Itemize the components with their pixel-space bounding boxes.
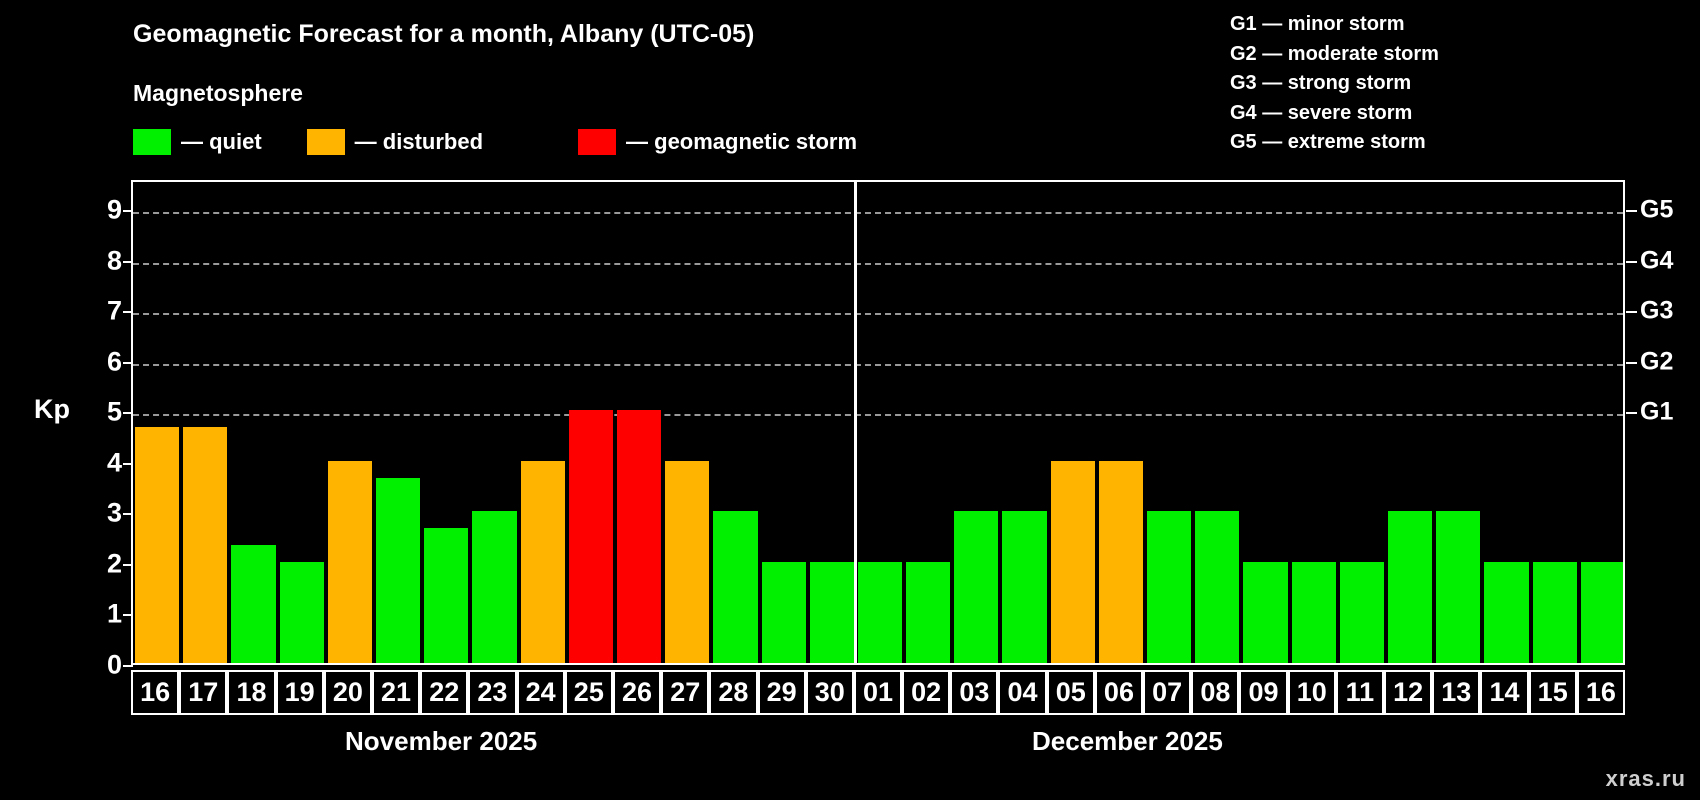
g-scale-row-5: G5 — extreme storm	[1230, 128, 1439, 158]
month-label-december: December 2025	[1032, 726, 1223, 757]
y-tick-label-6: 6	[86, 346, 122, 377]
y-tick-label-9: 9	[86, 195, 122, 226]
g-tick-label-G3: G3	[1640, 297, 1673, 326]
g-tick-label-G1: G1	[1640, 398, 1673, 427]
legend-item-geomagnetic-storm: — geomagnetic storm	[578, 128, 857, 156]
date-cell-10[interactable]: 10	[1288, 670, 1336, 715]
legend-swatch-geomagnetic-storm	[578, 129, 616, 155]
date-cell-13[interactable]: 13	[1432, 670, 1480, 715]
y-tick-mark-7	[123, 311, 133, 313]
bar-29[interactable]	[762, 562, 806, 663]
g-axis-labels: G1G2G3G4G5	[1640, 0, 1700, 800]
legend-item-disturbed: — disturbed	[307, 128, 483, 156]
bar-26[interactable]	[617, 410, 661, 663]
y-tick-mark-8	[123, 261, 133, 263]
bar-06[interactable]	[1099, 461, 1143, 663]
bar-series	[133, 182, 1623, 663]
bar-09[interactable]	[1243, 562, 1287, 663]
date-cell-22[interactable]: 22	[420, 670, 468, 715]
date-cell-18[interactable]: 18	[227, 670, 275, 715]
date-cell-03[interactable]: 03	[950, 670, 998, 715]
date-cell-08[interactable]: 08	[1191, 670, 1239, 715]
bar-13[interactable]	[1436, 511, 1480, 663]
date-cell-16[interactable]: 16	[131, 670, 179, 715]
legend-swatch-quiet	[133, 129, 171, 155]
bar-03[interactable]	[954, 511, 998, 663]
bar-10[interactable]	[1292, 562, 1336, 663]
legend-label-quiet: — quiet	[181, 129, 262, 155]
g-scale-row-1: G1 — minor storm	[1230, 10, 1439, 40]
y-tick-mark-1	[123, 614, 133, 616]
bar-21[interactable]	[376, 478, 420, 663]
y-tick-label-1: 1	[86, 599, 122, 630]
g-tick-mark-G2	[1626, 362, 1637, 364]
date-cell-29[interactable]: 29	[758, 670, 806, 715]
bar-24[interactable]	[521, 461, 565, 663]
bar-30[interactable]	[810, 562, 854, 663]
date-cell-24[interactable]: 24	[517, 670, 565, 715]
magnetosphere-label: Magnetosphere	[133, 80, 303, 107]
legend-item-quiet: — quiet	[133, 128, 262, 156]
g-tick-mark-G1	[1626, 412, 1637, 414]
watermark: xras.ru	[1606, 766, 1686, 792]
bar-14[interactable]	[1484, 562, 1528, 663]
bar-17[interactable]	[183, 427, 227, 663]
date-cell-19[interactable]: 19	[276, 670, 324, 715]
date-cell-06[interactable]: 06	[1095, 670, 1143, 715]
plot-area	[133, 182, 1623, 663]
legend-label-disturbed: — disturbed	[355, 129, 483, 155]
month-label-november: November 2025	[345, 726, 537, 757]
date-cell-26[interactable]: 26	[613, 670, 661, 715]
bar-28[interactable]	[713, 511, 757, 663]
y-tick-mark-6	[123, 362, 133, 364]
bar-27[interactable]	[665, 461, 709, 663]
date-cell-05[interactable]: 05	[1047, 670, 1095, 715]
date-cell-02[interactable]: 02	[902, 670, 950, 715]
y-tick-label-5: 5	[86, 397, 122, 428]
date-cell-15[interactable]: 15	[1529, 670, 1577, 715]
bar-25[interactable]	[569, 410, 613, 663]
date-cell-09[interactable]: 09	[1239, 670, 1287, 715]
y-tick-mark-9	[123, 210, 133, 212]
bar-01[interactable]	[858, 562, 902, 663]
y-tick-mark-2	[123, 564, 133, 566]
bar-18[interactable]	[231, 545, 275, 663]
bar-02[interactable]	[906, 562, 950, 663]
bar-07[interactable]	[1147, 511, 1191, 663]
g-tick-label-G5: G5	[1640, 196, 1673, 225]
date-cell-16[interactable]: 16	[1577, 670, 1625, 715]
date-cell-12[interactable]: 12	[1384, 670, 1432, 715]
g-tick-label-G2: G2	[1640, 347, 1673, 376]
bar-22[interactable]	[424, 528, 468, 663]
date-cell-01[interactable]: 01	[854, 670, 902, 715]
y-tick-label-4: 4	[86, 447, 122, 478]
g-tick-mark-G3	[1626, 311, 1637, 313]
y-tick-label-3: 3	[86, 498, 122, 529]
plot-frame	[131, 180, 1625, 665]
y-tick-mark-4	[123, 463, 133, 465]
y-axis-title: Kp	[34, 394, 70, 425]
bar-19[interactable]	[280, 562, 324, 663]
date-cell-14[interactable]: 14	[1480, 670, 1528, 715]
y-tick-label-8: 8	[86, 245, 122, 276]
date-cell-30[interactable]: 30	[806, 670, 854, 715]
date-cell-21[interactable]: 21	[372, 670, 420, 715]
g-tick-label-G4: G4	[1640, 246, 1673, 275]
bar-16[interactable]	[135, 427, 179, 663]
bar-20[interactable]	[328, 461, 372, 663]
date-cell-28[interactable]: 28	[709, 670, 757, 715]
date-cell-04[interactable]: 04	[998, 670, 1046, 715]
date-cell-23[interactable]: 23	[468, 670, 516, 715]
g-scale-row-2: G2 — moderate storm	[1230, 40, 1439, 70]
date-cell-27[interactable]: 27	[661, 670, 709, 715]
y-tick-label-2: 2	[86, 548, 122, 579]
g-tick-mark-G5	[1626, 210, 1637, 212]
y-tick-mark-0	[123, 665, 133, 667]
g-scale-legend: G1 — minor stormG2 — moderate stormG3 — …	[1230, 10, 1439, 158]
date-cell-11[interactable]: 11	[1336, 670, 1384, 715]
date-cell-25[interactable]: 25	[565, 670, 613, 715]
y-tick-label-0: 0	[86, 650, 122, 681]
bar-16[interactable]	[1581, 562, 1623, 663]
g-scale-row-3: G3 — strong storm	[1230, 69, 1439, 99]
date-cell-17[interactable]: 17	[179, 670, 227, 715]
legend: — quiet— disturbed— geomagnetic storm	[133, 128, 857, 156]
bar-05[interactable]	[1051, 461, 1095, 663]
legend-swatch-disturbed	[307, 129, 345, 155]
bar-23[interactable]	[472, 511, 516, 663]
bar-15[interactable]	[1533, 562, 1577, 663]
g-scale-row-4: G4 — severe storm	[1230, 99, 1439, 129]
date-cell-20[interactable]: 20	[324, 670, 372, 715]
y-tick-label-7: 7	[86, 296, 122, 327]
date-cell-07[interactable]: 07	[1143, 670, 1191, 715]
y-tick-mark-3	[123, 513, 133, 515]
bar-11[interactable]	[1340, 562, 1384, 663]
y-tick-mark-5	[123, 412, 133, 414]
bar-04[interactable]	[1002, 511, 1046, 663]
legend-label-geomagnetic-storm: — geomagnetic storm	[626, 129, 857, 155]
bar-12[interactable]	[1388, 511, 1432, 663]
bar-08[interactable]	[1195, 511, 1239, 663]
page-title: Geomagnetic Forecast for a month, Albany…	[133, 20, 754, 49]
g-tick-mark-G4	[1626, 261, 1637, 263]
